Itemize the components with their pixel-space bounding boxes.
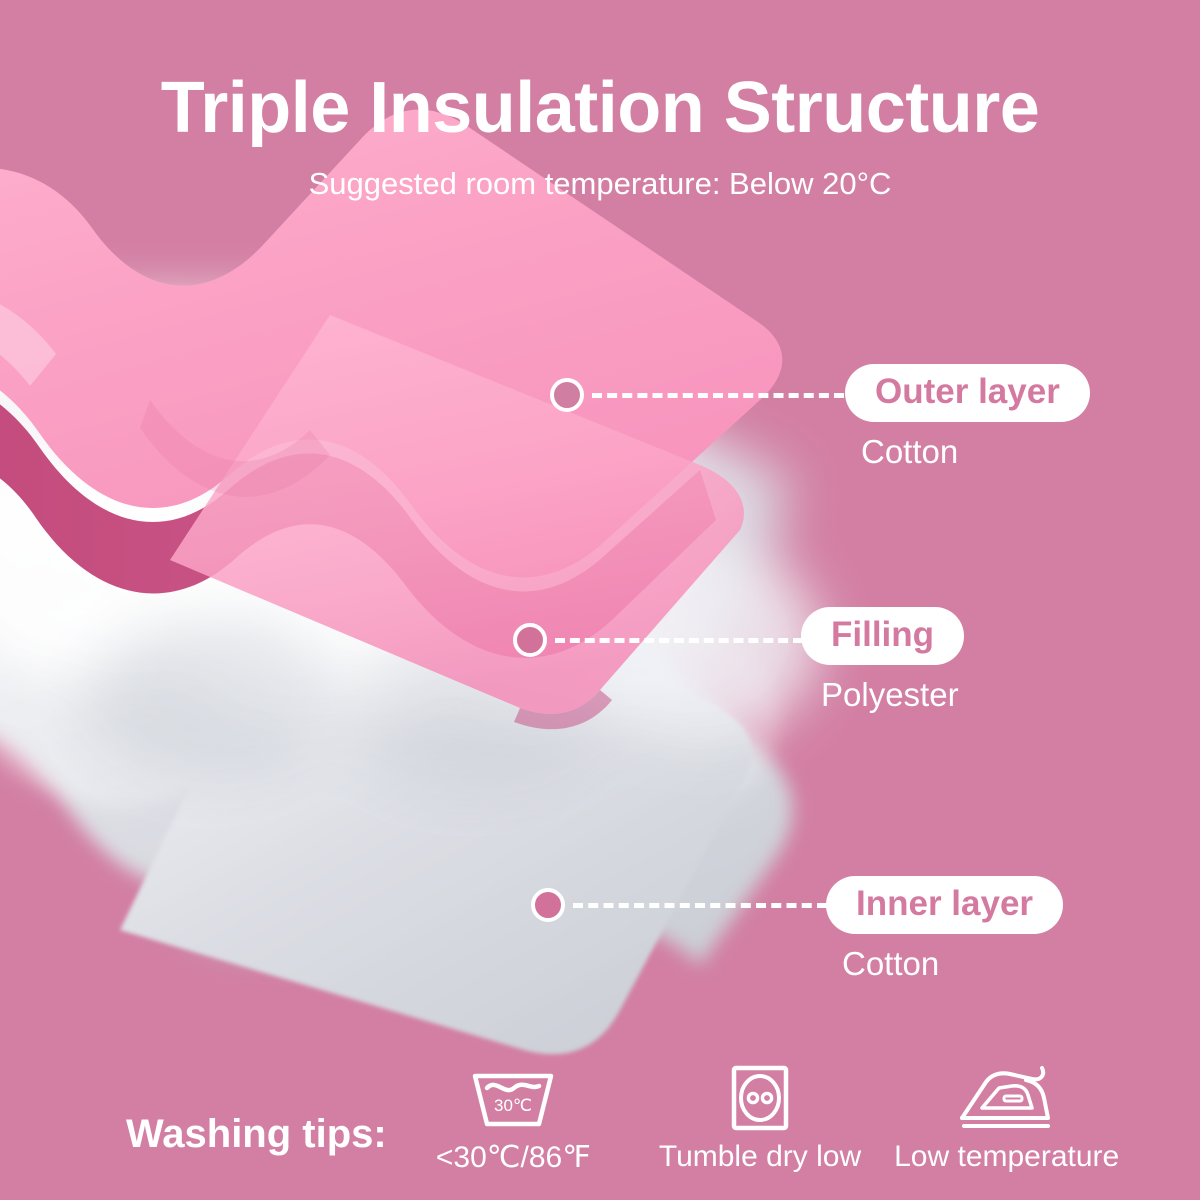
callout-material-inner: Cotton	[842, 945, 1063, 983]
infographic-canvas: Triple Insulation Structure Suggested ro…	[0, 0, 1200, 1200]
leader-line-filling	[555, 638, 803, 643]
iron-low-temperature-icon	[952, 1062, 1062, 1134]
leader-line-inner	[573, 903, 827, 908]
layer-dot-inner	[531, 888, 565, 922]
washing-tips-label: Washing tips:	[126, 1112, 387, 1157]
leader-line-outer	[592, 393, 844, 398]
callout-filling: Filling Polyester	[801, 607, 964, 714]
header-block: Triple Insulation Structure Suggested ro…	[0, 72, 1200, 202]
care-item-wash: 30℃ <30℃/86℉	[390, 1062, 637, 1192]
care-label-wash: <30℃/86℉	[436, 1140, 591, 1175]
care-label-tumble-dry: Tumble dry low	[659, 1140, 861, 1174]
care-item-tumble-dry: Tumble dry low	[637, 1062, 884, 1192]
callout-outer-layer: Outer layer Cotton	[845, 364, 1090, 471]
wash-tub-icon: 30℃	[461, 1062, 565, 1134]
layer-dot-filling	[513, 623, 547, 657]
wash-temp-text: 30℃	[494, 1096, 532, 1115]
page-subtitle: Suggested room temperature: Below 20°C	[0, 166, 1200, 202]
callout-inner-layer: Inner layer Cotton	[826, 876, 1063, 983]
tumble-dry-low-icon	[724, 1062, 796, 1134]
page-title: Triple Insulation Structure	[0, 72, 1200, 144]
care-item-iron: Low temperature	[883, 1062, 1130, 1192]
layer-dot-outer	[550, 378, 584, 412]
care-instructions-row: 30℃ <30℃/86℉ Tumble dry low	[390, 1062, 1130, 1192]
callout-label-filling: Filling	[801, 607, 964, 665]
callout-label-outer: Outer layer	[845, 364, 1090, 422]
care-label-iron: Low temperature	[894, 1140, 1119, 1174]
callout-material-outer: Cotton	[861, 433, 1090, 471]
callout-label-inner: Inner layer	[826, 876, 1063, 934]
callout-material-filling: Polyester	[821, 676, 964, 714]
